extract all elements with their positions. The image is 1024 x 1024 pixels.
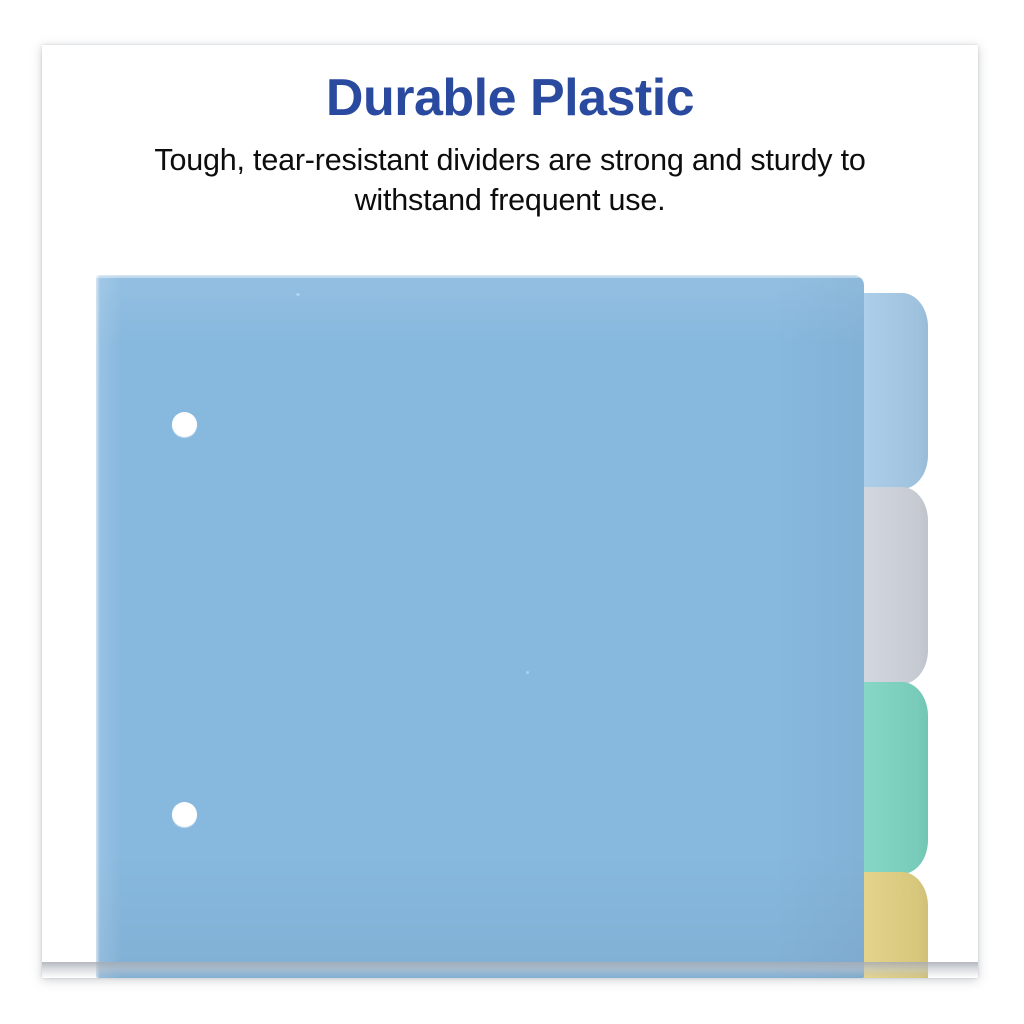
sheet-speck [526, 671, 529, 674]
sheet-left-edge [96, 275, 100, 978]
surface-shadow [42, 962, 978, 978]
top-punch-hole [172, 412, 197, 437]
bottom-punch-hole [172, 802, 197, 827]
sheet-speck [296, 293, 300, 296]
sheet-top-edge [96, 275, 864, 278]
product-photo-panel: Durable Plastic Tough, tear-resistant di… [42, 45, 978, 978]
divider-sheet [96, 275, 864, 978]
product-image [42, 45, 978, 978]
product-feature-card: Durable Plastic Tough, tear-resistant di… [0, 0, 1024, 1024]
